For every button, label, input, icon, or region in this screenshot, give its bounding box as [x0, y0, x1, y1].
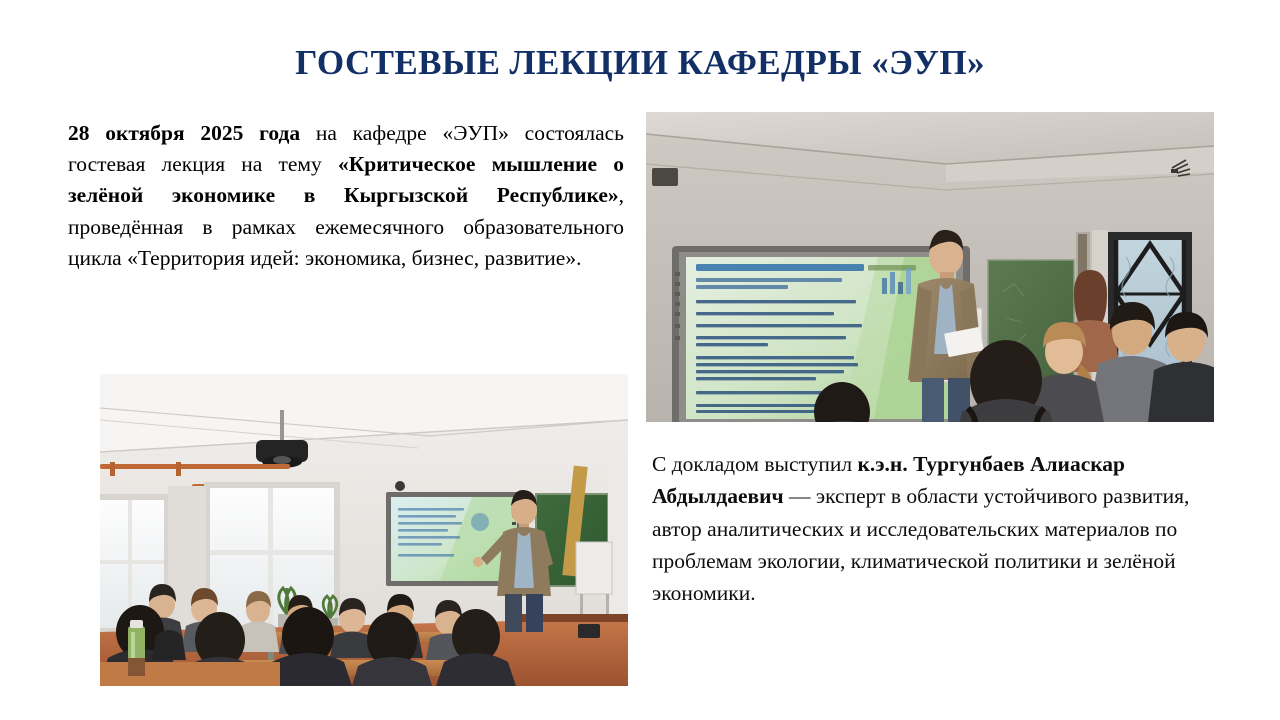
photo-classroom	[100, 374, 628, 686]
intro-paragraph: 28 октября 2025 года на кафедре «ЭУП» со…	[68, 118, 624, 274]
foreground-desk	[100, 662, 280, 686]
speaker-text-1: С докладом выступил	[652, 452, 858, 476]
page-title: ГОСТЕВЫЕ ЛЕКЦИИ КАФЕДРЫ «ЭУП»	[0, 44, 1280, 83]
speaker-paragraph: С докладом выступил к.э.н. Тургунбаев Ал…	[652, 448, 1210, 609]
photo-lecture-hall-graphic	[646, 112, 1214, 422]
ceiling-speaker-icon	[652, 168, 678, 186]
photo-lecture-hall	[646, 112, 1214, 422]
water-bottle	[128, 620, 145, 676]
photo-classroom-graphic	[100, 374, 628, 686]
presentation-slide: ГОСТЕВЫЕ ЛЕКЦИИ КАФЕДРЫ «ЭУП» 28 октября…	[0, 0, 1280, 720]
wall-camera-icon	[395, 481, 405, 491]
intro-date-bold: 28 октября 2025 года	[68, 121, 300, 145]
